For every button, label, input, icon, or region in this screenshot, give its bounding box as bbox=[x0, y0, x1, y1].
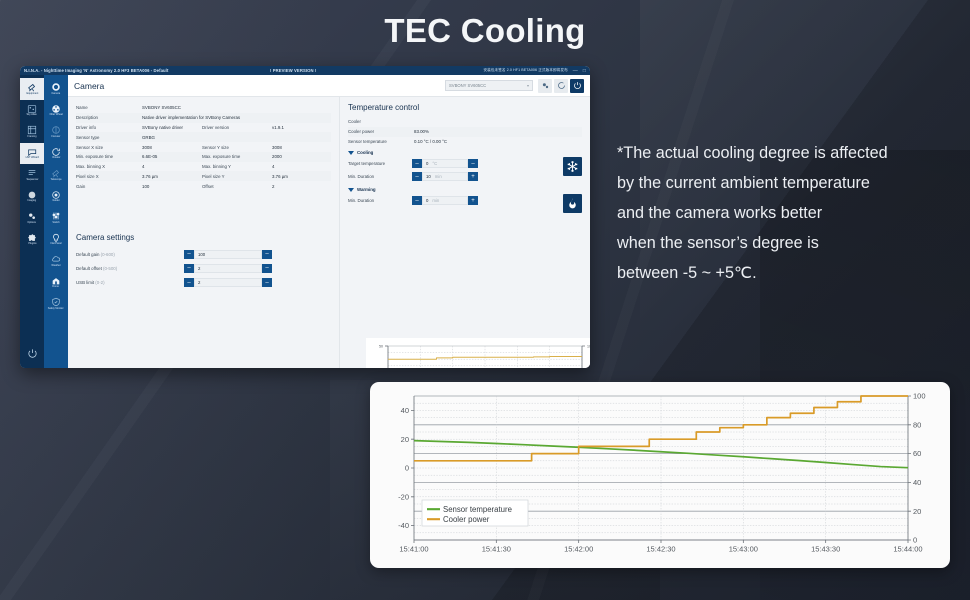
cooling-curve-chart-card: 40200-20-4010080604020015:41:0015:41:301… bbox=[370, 382, 950, 568]
decrement-button[interactable]: – bbox=[184, 264, 194, 273]
row-key-2: Offset bbox=[202, 184, 272, 189]
decrement-button[interactable]: – bbox=[184, 250, 194, 259]
temperature-control-column: Temperature control Cooler Cooler power … bbox=[340, 97, 590, 368]
decrement-button[interactable]: – bbox=[412, 196, 422, 205]
target-temperature-stepper[interactable]: – 0 °C – bbox=[412, 159, 478, 168]
nina-app-window: N.I.N.A. - Nighttime Imaging 'N' Astrono… bbox=[20, 66, 590, 368]
sidebar-item-label: Guider bbox=[52, 200, 59, 202]
page-title: TEC Cooling bbox=[0, 12, 970, 50]
description-line: when the sensor’s degree is bbox=[617, 228, 967, 258]
default-gain-stepper[interactable]: – 100 – bbox=[184, 250, 272, 259]
svg-text:40: 40 bbox=[401, 406, 409, 415]
framing-icon bbox=[27, 125, 37, 135]
row-value: GRBG bbox=[142, 135, 202, 140]
sidebar-item-label: Sequencer bbox=[26, 179, 38, 181]
increment-button[interactable]: – bbox=[262, 278, 272, 287]
sidebar-item-sky-atlas[interactable]: Sky Atlas bbox=[20, 100, 44, 122]
sidebar-column-devices: Camera Filter Wheel Focuser Rotator Tele… bbox=[44, 75, 68, 368]
row-value-2: v1.9.1 bbox=[272, 125, 284, 130]
sidebar-column-main: Equipment Sky Atlas Framing HST Wizard S… bbox=[20, 75, 44, 368]
table-row: Name SVBONY SV605CC bbox=[76, 103, 331, 113]
setting-row: USB limit (0-2) – 2 – bbox=[76, 275, 331, 289]
sidebar-item-camera[interactable]: Camera bbox=[44, 78, 68, 100]
table-row: Cooler power 83.00% bbox=[348, 127, 582, 137]
row-value: 6.6E-05 bbox=[142, 154, 202, 159]
filter-wheel-icon bbox=[51, 104, 61, 114]
setting-range: (0-500) bbox=[103, 266, 117, 271]
value-field[interactable]: 100 bbox=[194, 250, 262, 259]
table-row: Min. exposure time 6.6E-05 Max. exposure… bbox=[76, 152, 331, 162]
sidebar-item-label: Equipment bbox=[26, 93, 38, 95]
row-key: Sensor X size bbox=[76, 145, 142, 150]
value-field[interactable]: 2 bbox=[194, 278, 262, 287]
cooler-power-value: 83.00% bbox=[414, 129, 474, 134]
row-key: Min. exposure time bbox=[76, 154, 142, 159]
target-temperature-row: Target temperature – 0 °C – bbox=[348, 157, 557, 170]
sidebar-item-imaging[interactable]: Imaging bbox=[20, 186, 44, 208]
sidebar-item-label: Rotator bbox=[52, 157, 60, 159]
telescope-icon bbox=[27, 82, 37, 92]
sidebar-item-weather[interactable]: Weather bbox=[44, 250, 68, 272]
app-title-notice: 安装包未签名 2.0 HF1 BETA006 正式版本即将发布 bbox=[483, 68, 567, 73]
description-line: between -5 ~ +5℃. bbox=[617, 258, 967, 288]
start-warming-button[interactable] bbox=[563, 194, 582, 213]
increment-button[interactable]: – bbox=[262, 264, 272, 273]
row-key: Sensor type bbox=[76, 135, 142, 140]
row-key: Driver info bbox=[76, 125, 142, 130]
svg-text:15:44:00: 15:44:00 bbox=[893, 545, 922, 554]
sidebar-item-rotator[interactable]: Rotator bbox=[44, 143, 68, 165]
setting-name: Default offset bbox=[76, 266, 102, 271]
guider-icon bbox=[51, 190, 61, 200]
svg-text:15:43:30: 15:43:30 bbox=[811, 545, 840, 554]
description-line: *The actual cooling degree is affected bbox=[617, 138, 967, 168]
weather-icon bbox=[51, 254, 61, 264]
decrement-button[interactable]: – bbox=[412, 172, 422, 181]
table-row: Description Native driver implementation… bbox=[76, 113, 331, 123]
sidebar-item-dome[interactable]: Dome bbox=[44, 272, 68, 294]
minimize-button[interactable]: — bbox=[573, 68, 578, 74]
description-line: by the current ambient temperature bbox=[617, 168, 967, 198]
svg-text:50: 50 bbox=[379, 344, 383, 348]
usb-limit-stepper[interactable]: – 2 – bbox=[184, 278, 272, 287]
app-content: Camera SVBONY SV605CC ▾ bbox=[68, 75, 590, 368]
legend-label: Sensor temperature bbox=[443, 505, 512, 514]
table-row: Sensor type GRBG bbox=[76, 132, 331, 142]
cooling-duration-row: Min. Duration – 10 min + bbox=[348, 170, 557, 183]
description-text: *The actual cooling degree is affected b… bbox=[617, 138, 967, 288]
camera-settings-section: Camera settings Default gain (0-600) – 1… bbox=[68, 227, 339, 292]
camera-info-section: Name SVBONY SV605CC Description Native d… bbox=[68, 97, 339, 193]
chart-legend: Sensor temperatureCooler power bbox=[422, 500, 528, 526]
chevron-down-icon bbox=[348, 188, 354, 192]
warming-group-label: Warming bbox=[357, 187, 376, 192]
power-icon bbox=[27, 348, 38, 359]
app-title-bar: N.I.N.A. - Nighttime Imaging 'N' Astrono… bbox=[20, 66, 590, 75]
sidebar: Equipment Sky Atlas Framing HST Wizard S… bbox=[20, 75, 68, 368]
table-row: Sensor temperature 0.10 °C / 0.00 °C bbox=[348, 137, 582, 147]
sequencer-icon bbox=[27, 168, 37, 178]
row-value: 100 bbox=[142, 184, 202, 189]
sidebar-item-safety-monitor[interactable]: Safety Monitor bbox=[44, 293, 68, 315]
value-field[interactable]: 2 bbox=[194, 264, 262, 273]
row-key: Description bbox=[76, 115, 142, 120]
row-value: SVBONY SV605CC bbox=[142, 105, 181, 110]
description-line: and the camera works better bbox=[617, 198, 967, 228]
focuser-icon bbox=[51, 125, 61, 135]
row-value: 3.76 µm bbox=[142, 174, 202, 179]
cooling-curve-chart: 40200-20-4010080604020015:41:0015:41:301… bbox=[370, 382, 950, 568]
gear-icon bbox=[541, 81, 550, 90]
table-row: Driver info SVBony native driver Driver … bbox=[76, 123, 331, 133]
svg-text:0: 0 bbox=[913, 536, 917, 545]
setting-name: USB limit bbox=[76, 280, 94, 285]
legend-label: Cooler power bbox=[443, 515, 490, 524]
cooling-group-label: Cooling bbox=[357, 150, 373, 155]
sidebar-item-label: Flat Panel bbox=[50, 243, 61, 245]
svg-text:15:41:30: 15:41:30 bbox=[482, 545, 511, 554]
row-key-2: Pixel size Y bbox=[202, 174, 272, 179]
sidebar-item-label: Focuser bbox=[52, 136, 61, 138]
row-key: Name bbox=[76, 105, 142, 110]
flat-panel-icon bbox=[51, 233, 61, 243]
sidebar-item-label: Weather bbox=[51, 265, 60, 267]
svg-text:80: 80 bbox=[913, 420, 921, 429]
svg-text:0: 0 bbox=[405, 464, 409, 473]
table-row: Pixel size X 3.76 µm Pixel size Y 3.76 µ… bbox=[76, 171, 331, 181]
svg-text:15:42:30: 15:42:30 bbox=[646, 545, 675, 554]
maximize-button[interactable]: □ bbox=[583, 68, 586, 74]
settings-button[interactable] bbox=[538, 79, 552, 93]
camera-device-select[interactable]: SVBONY SV605CC ▾ bbox=[445, 80, 533, 91]
increment-button[interactable]: + bbox=[468, 196, 478, 205]
svg-text:15:41:00: 15:41:00 bbox=[399, 545, 428, 554]
sidebar-item-focuser[interactable]: Focuser bbox=[44, 121, 68, 143]
shield-icon bbox=[51, 297, 61, 307]
increment-button[interactable]: – bbox=[468, 159, 478, 168]
svg-text:15:43:00: 15:43:00 bbox=[729, 545, 758, 554]
row-value-2: 3.76 µm bbox=[272, 174, 288, 179]
row-value-2: 4 bbox=[272, 164, 274, 169]
svg-text:20: 20 bbox=[913, 507, 921, 516]
sidebar-item-label: Telescope bbox=[50, 179, 61, 181]
warming-duration-row: Min. Duration – 0 min + bbox=[348, 194, 557, 207]
setting-label: Default offset (0-500) bbox=[76, 266, 184, 271]
sidebar-item-label: Plugins bbox=[28, 243, 36, 245]
flame-icon bbox=[566, 197, 579, 210]
camera-icon bbox=[51, 82, 61, 92]
row-value: SVBony native driver bbox=[142, 125, 202, 130]
sidebar-item-label: Options bbox=[28, 222, 37, 224]
table-row: Max. binning X 4 Max. binning Y 4 bbox=[76, 162, 331, 172]
refresh-icon bbox=[557, 81, 566, 90]
setting-row: Default gain (0-600) – 100 – bbox=[76, 247, 331, 261]
sidebar-item-switch[interactable]: Switch bbox=[44, 207, 68, 229]
sidebar-item-label: Framing bbox=[27, 136, 36, 138]
sidebar-item-label: Imaging bbox=[28, 200, 37, 202]
value-text: 10 bbox=[426, 174, 431, 179]
value-field[interactable]: 0 min bbox=[422, 196, 468, 205]
switch-icon bbox=[51, 211, 61, 221]
row-key: Pixel size X bbox=[76, 174, 142, 179]
sidebar-item-label: Filter Wheel bbox=[49, 114, 62, 116]
mini-chart: 500-5010050011:43:3011:44:0011:44:3011:4… bbox=[366, 338, 590, 368]
row-key: Cooler bbox=[348, 119, 414, 124]
temperature-control-panel: Temperature control Cooler Cooler power … bbox=[340, 97, 590, 219]
row-value: Native driver implementation for SVBony … bbox=[142, 115, 240, 120]
cooling-duration-stepper[interactable]: – 10 min + bbox=[412, 172, 478, 181]
section-title: Camera settings bbox=[76, 233, 331, 242]
app-title: N.I.N.A. - Nighttime Imaging 'N' Astrono… bbox=[24, 68, 168, 73]
camera-device-value: SVBONY SV605CC bbox=[449, 83, 527, 88]
dome-icon bbox=[51, 276, 61, 286]
setting-range: (0-2) bbox=[95, 280, 104, 285]
camera-info-column: Name SVBONY SV605CC Description Native d… bbox=[68, 97, 340, 368]
svg-text:60: 60 bbox=[913, 449, 921, 458]
unit-text: min bbox=[435, 174, 442, 179]
setting-row: Default offset (0-500) – 2 – bbox=[76, 261, 331, 275]
svg-text:40: 40 bbox=[913, 478, 921, 487]
sidebar-item-plugins[interactable]: Plugins bbox=[20, 229, 44, 251]
power-icon bbox=[573, 81, 582, 90]
sensor-temperature-value: 0.10 °C / 0.00 °C bbox=[414, 139, 474, 144]
rotator-icon bbox=[51, 147, 61, 157]
cooling-group-header[interactable]: Cooling bbox=[348, 150, 582, 155]
sidebar-item-telescope[interactable]: Telescope bbox=[44, 164, 68, 186]
table-row: Cooler bbox=[348, 117, 582, 127]
value-field[interactable]: 0 °C bbox=[422, 159, 468, 168]
puzzle-icon bbox=[27, 233, 37, 243]
sidebar-item-guider[interactable]: Guider bbox=[44, 186, 68, 208]
value-text: 0 bbox=[426, 198, 428, 203]
preview-version-badge: ! PREVIEW VERSION ! bbox=[270, 68, 316, 73]
chevron-down-icon bbox=[348, 151, 354, 155]
connect-button[interactable] bbox=[570, 79, 584, 93]
setting-label: USB limit (0-2) bbox=[76, 280, 184, 285]
gear-icon bbox=[27, 211, 37, 221]
sidebar-item-flat-panel[interactable]: Flat Panel bbox=[44, 229, 68, 251]
section-title: Temperature control bbox=[348, 103, 582, 112]
row-key-2: Max. binning Y bbox=[202, 164, 272, 169]
sidebar-item-label: Dome bbox=[53, 286, 60, 288]
warming-duration-stepper[interactable]: – 0 min + bbox=[412, 196, 478, 205]
sidebar-item-equipment[interactable]: Equipment bbox=[20, 78, 44, 100]
sidebar-item-framing[interactable]: Framing bbox=[20, 121, 44, 143]
svg-text:20: 20 bbox=[401, 435, 409, 444]
value-field[interactable]: 10 min bbox=[422, 172, 468, 181]
sidebar-item-options[interactable]: Options bbox=[20, 207, 44, 229]
svg-text:100: 100 bbox=[587, 344, 590, 348]
row-key: Gain bbox=[76, 184, 142, 189]
table-row: Sensor X size 3008 Sensor Y size 3008 bbox=[76, 142, 331, 152]
row-key-2: Driver version bbox=[202, 125, 272, 130]
unit-text: °C bbox=[432, 161, 437, 166]
table-row: Gain 100 Offset 2 bbox=[76, 181, 331, 191]
imaging-icon bbox=[27, 190, 37, 200]
row-value-2: 2000 bbox=[272, 154, 282, 159]
unit-text: min bbox=[432, 198, 439, 203]
row-key: Cooler power bbox=[348, 129, 414, 134]
chevron-down-icon: ▾ bbox=[527, 83, 529, 88]
snowflake-icon bbox=[566, 160, 579, 173]
sky-atlas-icon bbox=[27, 104, 37, 114]
panel-toolbar: Camera SVBONY SV605CC ▾ bbox=[68, 75, 590, 97]
row-key: Sensor temperature bbox=[348, 139, 414, 144]
svg-text:-40: -40 bbox=[398, 521, 409, 530]
row-value-2: 3008 bbox=[272, 145, 282, 150]
power-button[interactable] bbox=[20, 346, 44, 364]
sidebar-item-sequencer[interactable]: Sequencer bbox=[20, 164, 44, 186]
decrement-button[interactable]: – bbox=[184, 278, 194, 287]
row-value: 3008 bbox=[142, 145, 202, 150]
row-label: Target temperature bbox=[348, 161, 408, 166]
setting-name: Default gain bbox=[76, 252, 99, 257]
mini-temperature-chart: 500-5010050011:43:3011:44:0011:44:3011:4… bbox=[366, 338, 590, 368]
row-key: Max. binning X bbox=[76, 164, 142, 169]
decrement-button[interactable]: – bbox=[412, 159, 422, 168]
row-key-2: Sensor Y size bbox=[202, 145, 272, 150]
row-value: 4 bbox=[142, 164, 202, 169]
row-label: Min. Duration bbox=[348, 198, 408, 203]
sidebar-item-label: Safety Monitor bbox=[48, 308, 64, 310]
refresh-button[interactable] bbox=[554, 79, 568, 93]
start-cooling-button[interactable] bbox=[563, 157, 582, 176]
panel-title: Camera bbox=[74, 81, 104, 91]
row-key-2: Max. exposure time bbox=[202, 154, 272, 159]
telescope-icon bbox=[51, 168, 61, 178]
sidebar-item-label: HST Wizard bbox=[25, 157, 38, 159]
sidebar-item-label: Sky Atlas bbox=[27, 114, 37, 116]
increment-button[interactable]: – bbox=[262, 250, 272, 259]
svg-text:15:42:00: 15:42:00 bbox=[564, 545, 593, 554]
increment-button[interactable]: + bbox=[468, 172, 478, 181]
setting-label: Default gain (0-600) bbox=[76, 252, 184, 257]
default-offset-stepper[interactable]: – 2 – bbox=[184, 264, 272, 273]
setting-range: (0-600) bbox=[101, 252, 115, 257]
svg-text:100: 100 bbox=[913, 392, 926, 401]
sidebar-item-label: Switch bbox=[52, 222, 59, 224]
sidebar-item-filter-wheel[interactable]: Filter Wheel bbox=[44, 100, 68, 122]
value-text: 0 bbox=[426, 161, 428, 166]
sidebar-item-hst-wizard[interactable]: HST Wizard bbox=[20, 143, 44, 165]
warming-group-header[interactable]: Warming bbox=[348, 187, 582, 192]
svg-text:-20: -20 bbox=[398, 492, 409, 501]
sidebar-item-label: Camera bbox=[52, 93, 61, 95]
row-value-2: 2 bbox=[272, 184, 274, 189]
wizard-icon bbox=[27, 147, 37, 157]
row-label: Min. Duration bbox=[348, 174, 408, 179]
